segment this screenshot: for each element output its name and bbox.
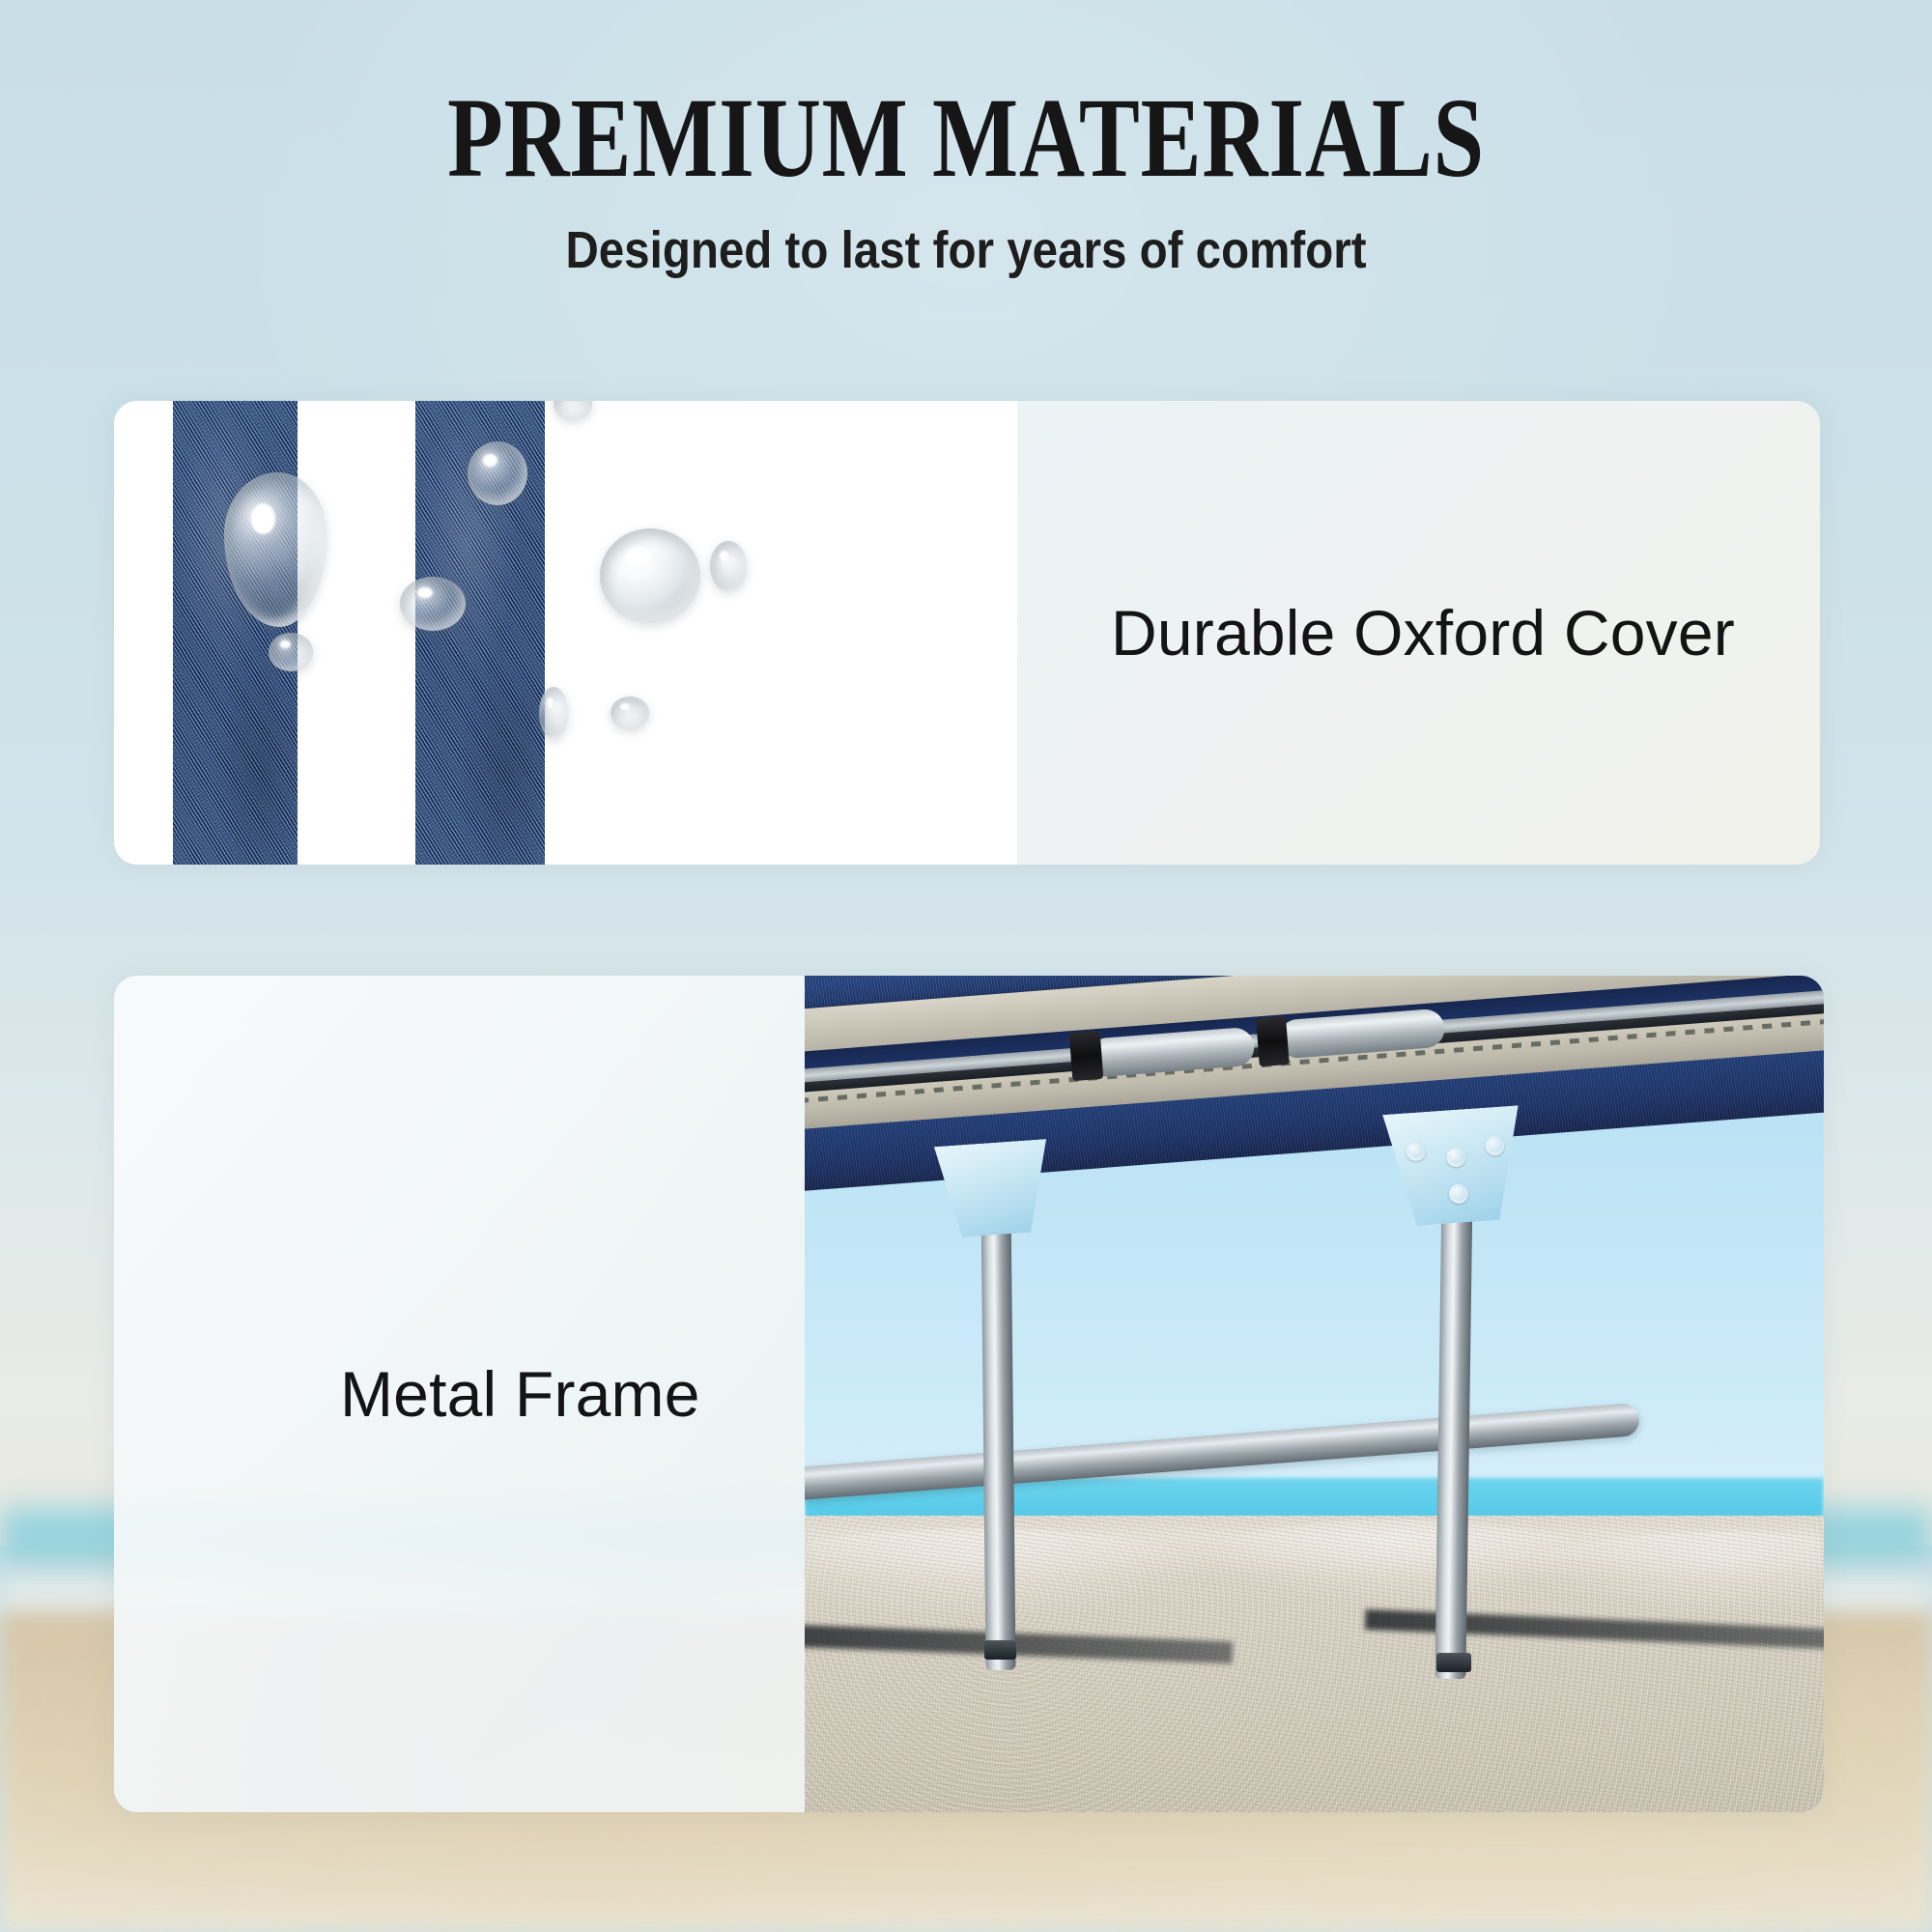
frame-leg-left (980, 1202, 1015, 1670)
frame-foot-right (1436, 1653, 1471, 1671)
oxford-fabric-photo (114, 401, 1017, 865)
feature-card-metal-frame: Metal Frame (114, 976, 1824, 1812)
fabric-sheen (173, 401, 298, 865)
photo-sand-grain-texture (805, 1516, 1824, 1812)
velcro-strap (1068, 1031, 1102, 1081)
frame-foot-left (984, 1640, 1017, 1659)
page-subtitle: Designed to last for years of comfort (116, 224, 1816, 276)
water-droplet (554, 401, 592, 420)
header: PREMIUM MATERIALS Designed to last for y… (0, 0, 1932, 276)
water-droplet (710, 541, 747, 591)
metal-frame-photo (805, 976, 1824, 1812)
velcro-strap (1255, 1016, 1289, 1066)
water-droplet (400, 577, 466, 631)
water-droplet (539, 687, 568, 739)
bracket-plate (929, 1139, 1058, 1239)
water-droplet (269, 633, 313, 671)
frame-bracket-right (1377, 1104, 1532, 1227)
fabric-navy-stripe-left (173, 401, 298, 865)
page-title: PREMIUM MATERIALS (193, 81, 1739, 195)
feature-card-oxford-cover: Durable Oxford Cover (114, 401, 1820, 865)
feature-label-metal-frame: Metal Frame (340, 1357, 700, 1431)
feature-label-oxford-cover: Durable Oxford Cover (1111, 596, 1735, 669)
water-droplet (600, 528, 700, 623)
water-droplet (468, 441, 527, 505)
frame-bracket-left (929, 1139, 1058, 1239)
water-droplet (611, 696, 649, 729)
